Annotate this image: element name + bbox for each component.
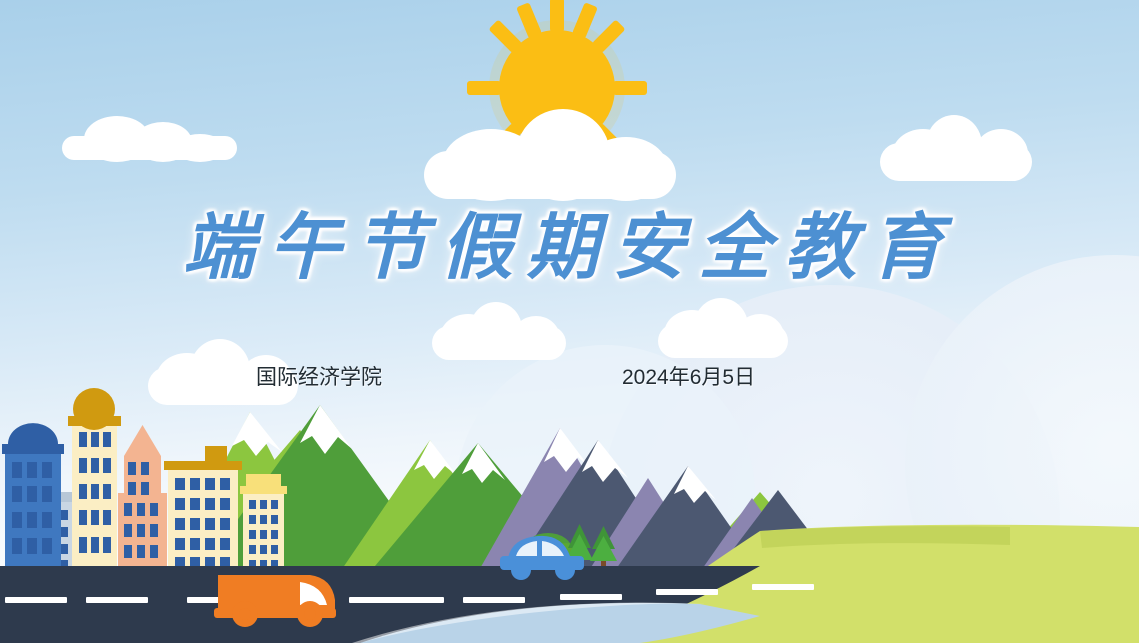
date-label: 2024年6月5日 xyxy=(622,361,755,391)
page-title: 端午节假期安全教育 xyxy=(0,188,1139,293)
landscape-illustration xyxy=(0,0,1139,643)
organization-label: 国际经济学院 xyxy=(256,361,382,391)
presentation-slide: 端午节假期安全教育 国际经济学院 2024年6月5日 xyxy=(0,0,1139,643)
